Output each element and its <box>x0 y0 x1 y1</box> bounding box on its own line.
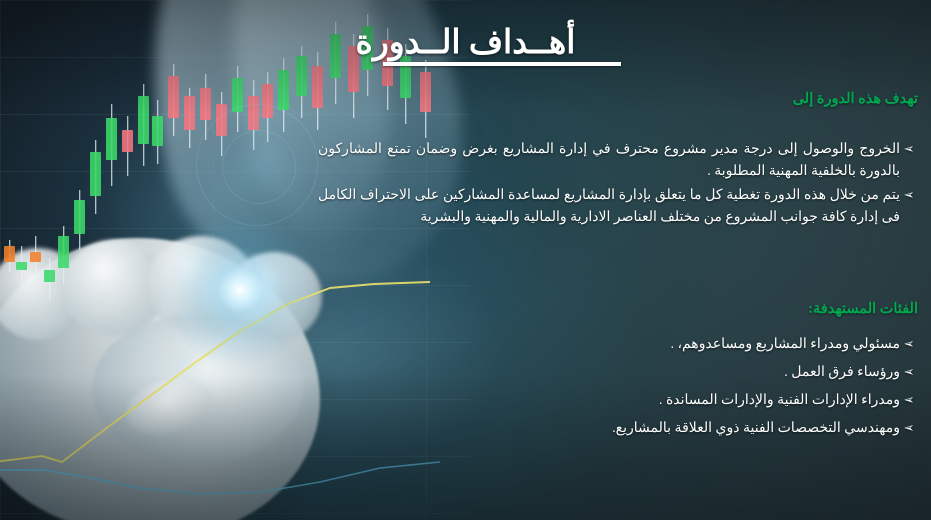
list-item: ➢ ومدراء الإدارات الفنية والإدارات المسا… <box>478 390 918 412</box>
arrow-bullet-icon: ➢ <box>900 418 918 440</box>
arrow-bullet-icon: ➢ <box>900 185 918 229</box>
list-item-text: يتم من خلال هذه الدورة تغطية كل ما يتعلق… <box>318 185 900 229</box>
title-underline <box>383 62 621 66</box>
bullet-list-target-audience: ➢ مسئولي ومدراء المشاريع ومساعدوهم، . ➢ … <box>478 334 918 446</box>
bullet-list-objectives: ➢ الخروج والوصول إلى درجة مدير مشروع محت… <box>318 139 918 231</box>
list-item-text: ومهندسي التخصصات الفنية ذوي العلاقة بالم… <box>478 418 900 440</box>
section-heading-target-audience: الفئات المستهدفة: <box>808 301 918 318</box>
arrow-bullet-icon: ➢ <box>900 334 918 356</box>
list-item-text: مسئولي ومدراء المشاريع ومساعدوهم، . <box>478 334 900 356</box>
list-item-text: ورؤساء فرق العمل . <box>478 362 900 384</box>
list-item: ➢ ومهندسي التخصصات الفنية ذوي العلاقة با… <box>478 418 918 440</box>
list-item: ➢ مسئولي ومدراء المشاريع ومساعدوهم، . <box>478 334 918 356</box>
list-item: ➢ يتم من خلال هذه الدورة تغطية كل ما يتع… <box>318 185 918 229</box>
section-heading-objectives: تهدف هذه الدورة إلى <box>793 91 918 108</box>
slide-title: أهــداف الــدورة <box>0 22 931 62</box>
list-item: ➢ الخروج والوصول إلى درجة مدير مشروع محت… <box>318 139 918 183</box>
arrow-bullet-icon: ➢ <box>900 362 918 384</box>
list-item-text: الخروج والوصول إلى درجة مدير مشروع محترف… <box>318 139 900 183</box>
list-item: ➢ ورؤساء فرق العمل . <box>478 362 918 384</box>
list-item-text: ومدراء الإدارات الفنية والإدارات المساند… <box>478 390 900 412</box>
presentation-slide: أهــداف الــدورة تهدف هذه الدورة إلى ➢ ا… <box>0 0 931 520</box>
arrow-bullet-icon: ➢ <box>900 390 918 412</box>
arrow-bullet-icon: ➢ <box>900 139 918 183</box>
